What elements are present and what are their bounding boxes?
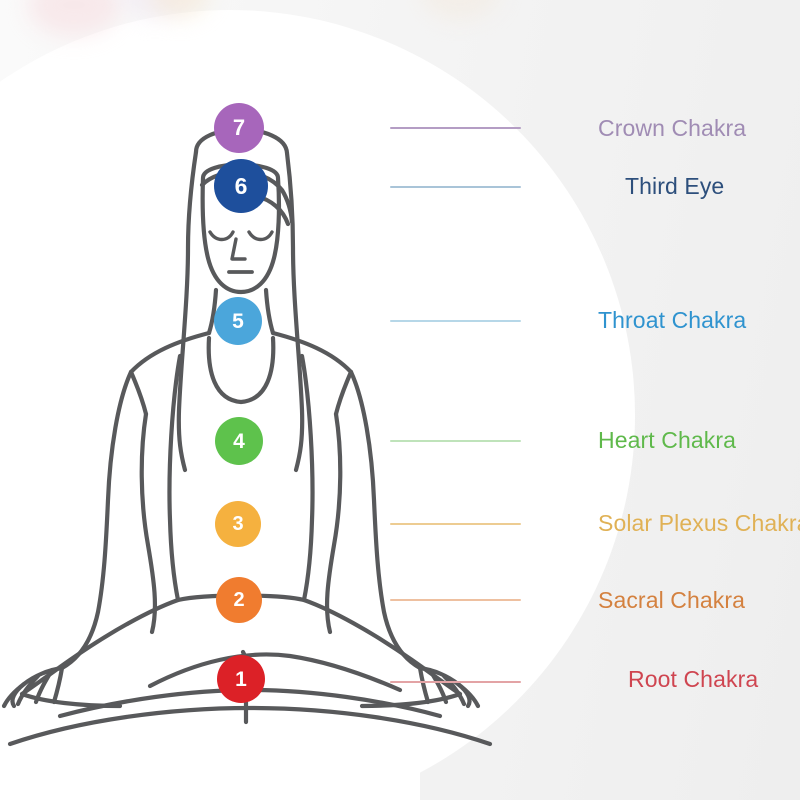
connector-line-throat bbox=[390, 320, 521, 322]
chakra-marker-1[interactable]: 1 bbox=[217, 655, 265, 703]
chakra-diagram-canvas: 7 6 5 4 3 2 1 Crown Chakra Third Eye Thr… bbox=[0, 0, 800, 800]
chakra-marker-6[interactable]: 6 bbox=[214, 159, 268, 213]
connector-line-heart bbox=[390, 440, 521, 442]
connector-line-third-eye bbox=[390, 186, 521, 188]
connector-line-root bbox=[390, 681, 521, 683]
connector-line-sacral bbox=[390, 599, 521, 601]
chakra-marker-4[interactable]: 4 bbox=[215, 417, 263, 465]
chakra-label-sacral: Sacral Chakra bbox=[598, 587, 745, 614]
connector-line-crown bbox=[390, 127, 521, 129]
chakra-label-solar-plexus: Solar Plexus Chakra bbox=[598, 510, 800, 537]
chakra-marker-5[interactable]: 5 bbox=[214, 297, 262, 345]
chakra-label-heart: Heart Chakra bbox=[598, 427, 736, 454]
connector-line-solar-plexus bbox=[390, 523, 521, 525]
chakra-marker-3[interactable]: 3 bbox=[215, 501, 261, 547]
chakra-label-crown: Crown Chakra bbox=[598, 115, 746, 142]
chakra-marker-2[interactable]: 2 bbox=[216, 577, 262, 623]
chakra-label-throat: Throat Chakra bbox=[598, 307, 746, 334]
chakra-label-third-eye: Third Eye bbox=[625, 173, 724, 200]
chakra-marker-7[interactable]: 7 bbox=[214, 103, 264, 153]
chakra-label-root: Root Chakra bbox=[628, 666, 758, 693]
